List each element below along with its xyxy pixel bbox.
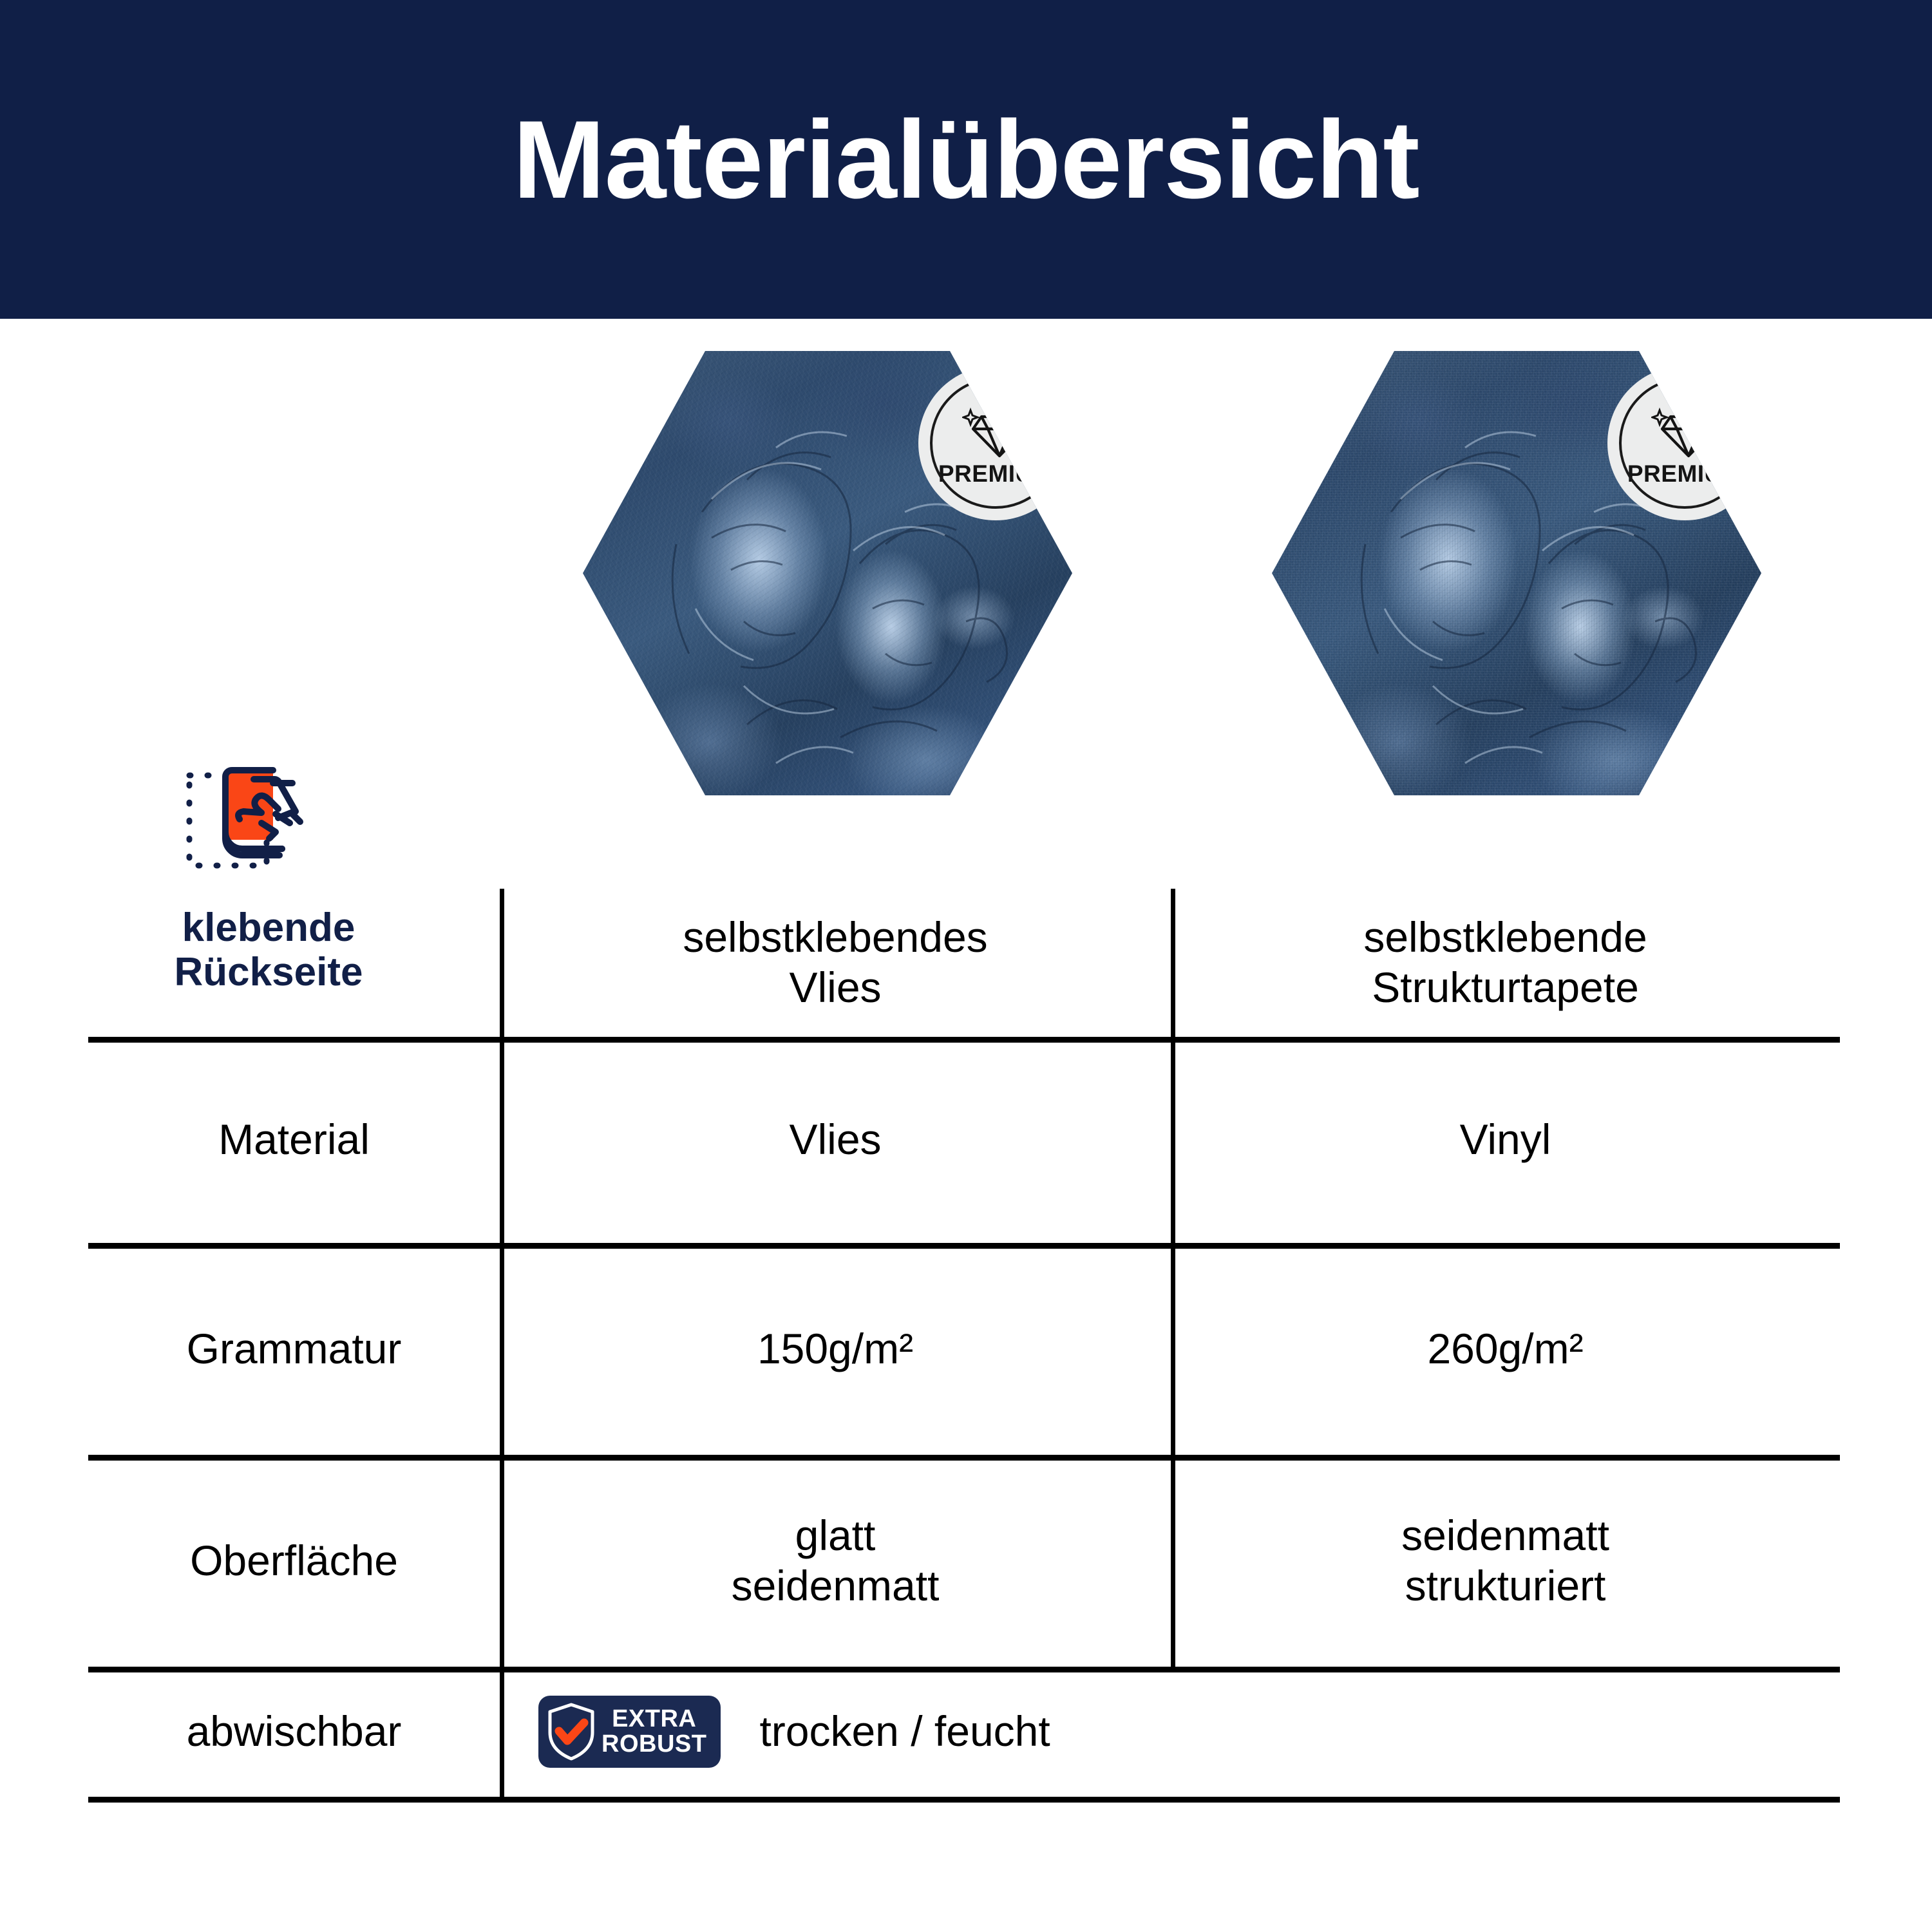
robust-line2: ROBUST [601, 1732, 706, 1757]
cell-strukturtapete-name: selbstklebende Strukturtapete [1171, 913, 1840, 1013]
table-row: abwischbar EXTRA ROBUST trocken / feucht [88, 1667, 1840, 1797]
page-title: Materialübersicht [513, 104, 1419, 215]
cell-line2: Strukturtapete [1363, 963, 1647, 1013]
row-label-oberflaeche: Oberfläche [88, 1536, 500, 1586]
row-label-grammatur: Grammatur [88, 1324, 500, 1374]
cell-oberflaeche-vinyl: seidenmatt strukturiert [1171, 1511, 1840, 1611]
row-label-material: Material [88, 1115, 500, 1165]
header-bar: Materialübersicht [0, 0, 1932, 319]
robust-badge-text: EXTRA ROBUST [601, 1707, 706, 1757]
badge-ring [930, 377, 1061, 509]
cell-line1: selbstklebende [1363, 913, 1647, 963]
hexagon-image-structured: PREMIUM [1272, 351, 1761, 795]
swatch-preview-vlies: PREMIUM [583, 351, 1072, 795]
abwischbar-text: trocken / feucht [759, 1707, 1050, 1757]
cell-line2: seidenmatt [732, 1561, 940, 1611]
table-row: Material Vlies Vinyl [88, 1037, 1840, 1243]
table-row: Oberfläche glatt seidenmatt seidenmatt s… [88, 1455, 1840, 1667]
cell-vlies-name: selbstklebendes Vlies [500, 913, 1171, 1013]
table-row: selbstklebendes Vlies selbstklebende Str… [88, 889, 1840, 1037]
cell-material-vlies: Vlies [500, 1115, 1171, 1165]
hexagon-image-smooth: PREMIUM [583, 351, 1072, 795]
swatch-preview-strukturtapete: PREMIUM [1272, 351, 1761, 795]
premium-badge: PREMIUM [1613, 372, 1756, 515]
adhesive-backing-icon [175, 760, 362, 889]
material-overview-infographic: Materialübersicht [0, 0, 1932, 1932]
cell-grammatur-vlies: 150g/m² [500, 1324, 1171, 1374]
cell-abwischbar-value: EXTRA ROBUST trocken / feucht [500, 1696, 1840, 1768]
cell-line1: seidenmatt [1401, 1511, 1609, 1561]
cell-material-vinyl: Vinyl [1171, 1115, 1840, 1165]
cell-line2: Vlies [683, 963, 987, 1013]
table-bottom-divider [88, 1797, 1840, 1803]
cell-line1: selbstklebendes [683, 913, 987, 963]
shield-check-icon [546, 1702, 596, 1761]
premium-badge: PREMIUM [924, 372, 1067, 515]
cell-grammatur-vinyl: 260g/m² [1171, 1324, 1840, 1374]
material-comparison-table: selbstklebendes Vlies selbstklebende Str… [88, 889, 1840, 1797]
table-row: Grammatur 150g/m² 260g/m² [88, 1243, 1840, 1455]
portrait-artwork-icon [583, 351, 1072, 795]
robust-line1: EXTRA [601, 1707, 706, 1732]
cell-oberflaeche-vlies: glatt seidenmatt [500, 1511, 1171, 1611]
extra-robust-badge: EXTRA ROBUST [538, 1696, 721, 1768]
badge-ring [1619, 377, 1750, 509]
portrait-artwork-icon [1272, 351, 1761, 795]
cell-line1: glatt [732, 1511, 940, 1561]
row-label-abwischbar: abwischbar [88, 1707, 500, 1757]
cell-line2: strukturiert [1401, 1561, 1609, 1611]
